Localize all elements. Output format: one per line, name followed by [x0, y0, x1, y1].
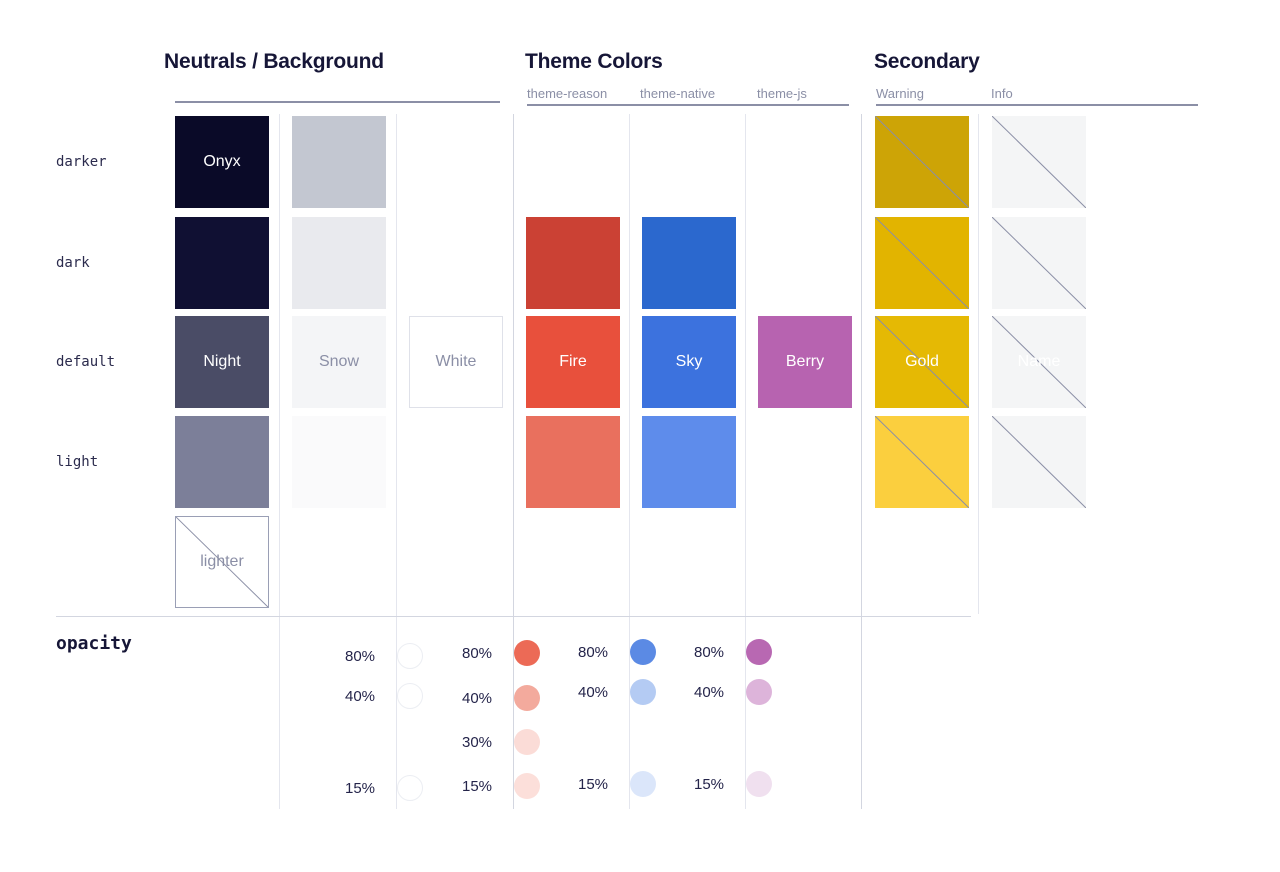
opacity-swatch-dot[interactable] [746, 771, 772, 797]
opacity-percent-label: 15% [345, 780, 387, 797]
opacity-item-sky-15[interactable]: 15% [578, 771, 656, 797]
swatch-noise-light[interactable] [992, 416, 1086, 508]
group-rule-theme [527, 104, 849, 106]
swatch-label: Snow [319, 354, 359, 370]
strikethrough-icon [992, 217, 1086, 309]
opacity-percent-label: 40% [462, 690, 504, 707]
opacity-item-white-80[interactable]: 80% [345, 643, 423, 669]
swatch-label: Name [1018, 354, 1061, 370]
opacity-swatch-dot[interactable] [514, 773, 540, 799]
swatch-white-default[interactable]: White [409, 316, 503, 408]
opacity-percent-label: 15% [578, 776, 620, 793]
swatch-fire-default[interactable]: Fire [526, 316, 620, 408]
opacity-percent-label: 40% [578, 684, 620, 701]
opacity-swatch-dot[interactable] [397, 683, 423, 709]
section-divider-0 [56, 616, 971, 617]
swatch-berry-default[interactable]: Berry [758, 316, 852, 408]
opacity-percent-label: 40% [345, 688, 387, 705]
swatch-onyx-dark[interactable] [175, 217, 269, 309]
opacity-swatch-dot[interactable] [514, 729, 540, 755]
swatch-label: White [436, 354, 477, 370]
opacity-percent-label: 80% [578, 644, 620, 661]
opacity-item-fire-40[interactable]: 40% [462, 685, 540, 711]
group-rule-secondary [876, 104, 1198, 106]
swatch-gold-dark[interactable] [875, 217, 969, 309]
sublabel-info: Info [991, 86, 1013, 101]
swatch-snow-darker[interactable] [292, 116, 386, 208]
swatch-label: lighter [200, 554, 244, 570]
opacity-item-fire-15[interactable]: 15% [462, 773, 540, 799]
opacity-item-berry-40[interactable]: 40% [694, 679, 772, 705]
group-rule-neutrals [175, 101, 500, 103]
swatch-label: Berry [786, 354, 824, 370]
opacity-swatch-dot[interactable] [746, 679, 772, 705]
opacity-item-fire-80[interactable]: 80% [462, 640, 540, 666]
swatch-gold-light[interactable] [875, 416, 969, 508]
swatch-snow-default[interactable]: Snow [292, 316, 386, 408]
swatch-label: Gold [905, 354, 939, 370]
sublabel-theme-native: theme-native [640, 86, 715, 101]
opacity-swatch-dot[interactable] [630, 679, 656, 705]
swatch-noise-darker[interactable] [992, 116, 1086, 208]
column-divider-0 [279, 114, 280, 809]
swatch-snow-dark[interactable] [292, 217, 386, 309]
column-divider-5 [861, 114, 862, 809]
sublabel-warning: Warning [876, 86, 924, 101]
opacity-item-white-40[interactable]: 40% [345, 683, 423, 709]
opacity-percent-label: 80% [345, 648, 387, 665]
row-label-dark: dark [56, 255, 90, 271]
opacity-percent-label: 80% [694, 644, 736, 661]
group-title-secondary: Secondary [874, 50, 980, 74]
strikethrough-icon [875, 116, 969, 208]
strikethrough-icon [992, 116, 1086, 208]
swatch-gold-darker[interactable] [875, 116, 969, 208]
opacity-swatch-dot[interactable] [397, 775, 423, 801]
swatch-label: Sky [676, 354, 703, 370]
opacity-percent-label: 80% [462, 645, 504, 662]
opacity-item-white-15[interactable]: 15% [345, 775, 423, 801]
swatch-sky-light[interactable] [642, 416, 736, 508]
opacity-swatch-dot[interactable] [746, 639, 772, 665]
group-title-neutrals: Neutrals / Background [164, 50, 384, 74]
row-label-default: default [56, 354, 115, 370]
column-divider-6 [978, 114, 979, 614]
swatch-fire-dark[interactable] [526, 217, 620, 309]
opacity-swatch-dot[interactable] [514, 685, 540, 711]
swatch-sky-dark[interactable] [642, 217, 736, 309]
strikethrough-icon [875, 217, 969, 309]
group-title-theme: Theme Colors [525, 50, 663, 74]
opacity-item-berry-15[interactable]: 15% [694, 771, 772, 797]
opacity-item-sky-40[interactable]: 40% [578, 679, 656, 705]
swatch-onyx-lighter[interactable]: lighter [175, 516, 269, 608]
swatch-noise-default[interactable]: Name [992, 316, 1086, 408]
sublabel-theme-reason: theme-reason [527, 86, 607, 101]
opacity-swatch-dot[interactable] [630, 771, 656, 797]
opacity-item-berry-80[interactable]: 80% [694, 639, 772, 665]
opacity-item-fire-30[interactable]: 30% [462, 729, 540, 755]
opacity-percent-label: 30% [462, 734, 504, 751]
swatch-onyx-default[interactable]: Night [175, 316, 269, 408]
swatch-onyx-light[interactable] [175, 416, 269, 508]
strikethrough-icon [992, 416, 1086, 508]
swatch-label: Fire [559, 354, 587, 370]
section-label-opacity: opacity [56, 633, 132, 654]
swatch-sky-default[interactable]: Sky [642, 316, 736, 408]
opacity-percent-label: 40% [694, 684, 736, 701]
opacity-percent-label: 15% [694, 776, 736, 793]
opacity-swatch-dot[interactable] [397, 643, 423, 669]
swatch-snow-light[interactable] [292, 416, 386, 508]
swatch-gold-default[interactable]: Gold [875, 316, 969, 408]
swatch-noise-dark[interactable] [992, 217, 1086, 309]
color-palette-canvas: Neutrals / Background Theme Colors theme… [0, 0, 1280, 872]
row-label-light: light [56, 454, 98, 470]
opacity-swatch-dot[interactable] [514, 640, 540, 666]
strikethrough-icon [875, 416, 969, 508]
swatch-label: Onyx [203, 154, 240, 170]
opacity-percent-label: 15% [462, 778, 504, 795]
swatch-label: Night [203, 354, 240, 370]
row-label-darker: darker [56, 154, 107, 170]
opacity-swatch-dot[interactable] [630, 639, 656, 665]
sublabel-theme-js: theme-js [757, 86, 807, 101]
swatch-onyx-darker[interactable]: Onyx [175, 116, 269, 208]
swatch-fire-light[interactable] [526, 416, 620, 508]
opacity-item-sky-80[interactable]: 80% [578, 639, 656, 665]
